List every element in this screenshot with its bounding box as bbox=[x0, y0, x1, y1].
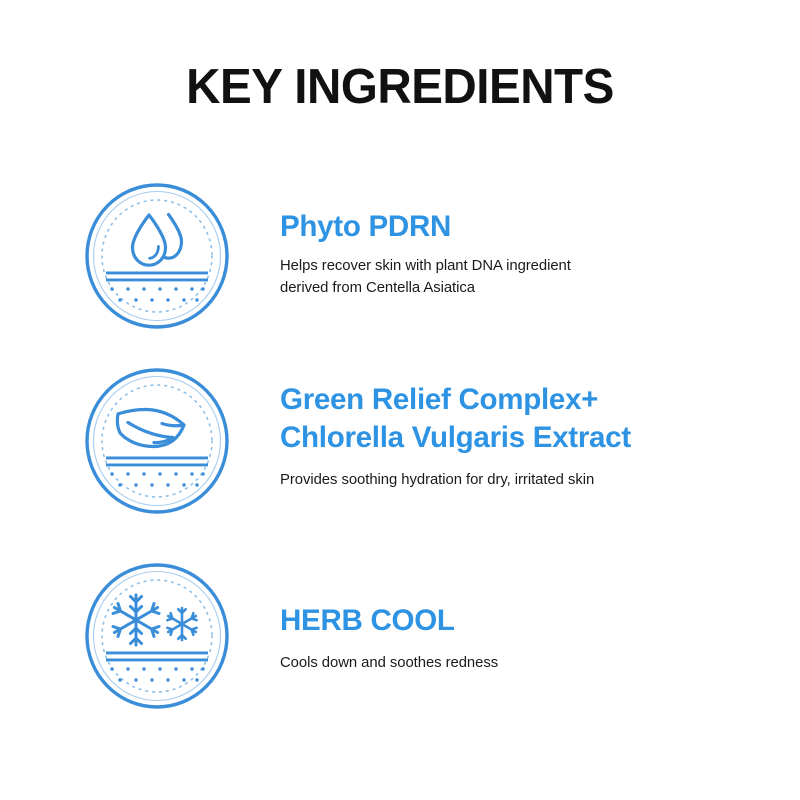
ingredient-name: Phyto PDRN bbox=[280, 208, 743, 246]
ingredient-item: HERB COOL Cools down and soothes redness bbox=[0, 562, 800, 712]
page-title: KEY INGREDIENTS bbox=[12, 62, 788, 113]
ingredient-description: Cools down and soothes redness bbox=[280, 652, 745, 673]
ingredient-name: Green Relief Complex+ Chlorella Vulgaris… bbox=[280, 381, 743, 458]
leaves-icon bbox=[84, 367, 230, 515]
ingredient-item: Green Relief Complex+ Chlorella Vulgaris… bbox=[0, 367, 800, 517]
snowflakes-icon bbox=[84, 562, 230, 710]
ingredient-description: Helps recover skin with plant DNA ingred… bbox=[280, 255, 745, 298]
water-drops-icon bbox=[84, 182, 230, 330]
key-ingredients-page: KEY INGREDIENTS bbox=[0, 0, 800, 800]
ingredient-item: Phyto PDRN Helps recover skin with plant… bbox=[0, 182, 800, 332]
ingredient-text-block: Phyto PDRN Helps recover skin with plant… bbox=[280, 208, 750, 298]
ingredient-description: Provides soothing hydration for dry, irr… bbox=[280, 469, 745, 490]
ingredient-text-block: Green Relief Complex+ Chlorella Vulgaris… bbox=[280, 381, 750, 490]
ingredient-text-block: HERB COOL Cools down and soothes redness bbox=[280, 602, 750, 674]
ingredient-name: HERB COOL bbox=[280, 602, 743, 640]
